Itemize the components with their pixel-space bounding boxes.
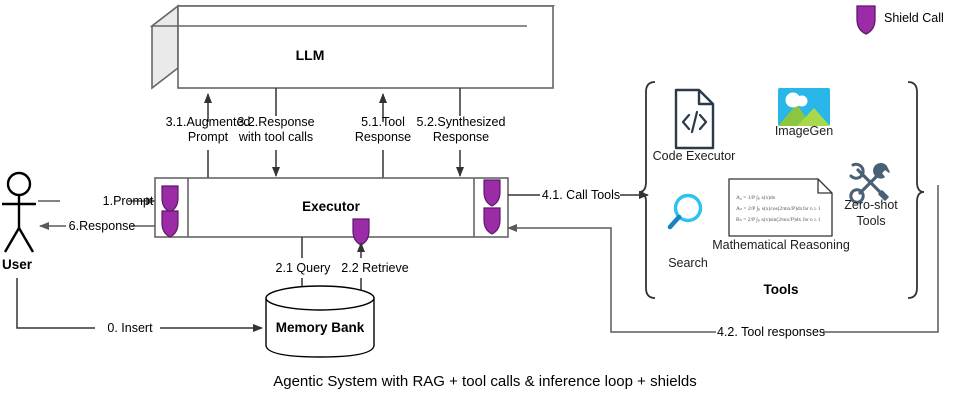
edge-label-prompt: 1.Prompt xyxy=(94,194,162,208)
edge-label-response-tool-calls-line2: with tool calls xyxy=(211,130,341,145)
svg-text:A₀ = 1/P ∫ₚ s(x)dx: A₀ = 1/P ∫ₚ s(x)dx xyxy=(736,194,776,201)
shield-icon-exec-left-bottom xyxy=(162,211,178,237)
shield-icon-exec-right-top xyxy=(484,180,500,206)
shield-icon-legend xyxy=(857,6,875,34)
tools-group-label: Tools xyxy=(711,283,851,297)
edge-label-tool-responses: 4.2. Tool responses xyxy=(717,325,823,339)
edge-label-response-tool-calls-line1: 3.2.Response xyxy=(211,115,341,130)
shield-icon-exec-right-bottom xyxy=(484,208,500,234)
executor-label: Executor xyxy=(271,200,391,214)
svg-text:for n ≥ 1: for n ≥ 1 xyxy=(803,207,821,212)
memory-bank-label: Memory Bank xyxy=(260,321,380,335)
math-document-icon[interactable]: A₀ = 1/P ∫ₚ s(x)dx Aₙ = 2/P ∫ₚ s(x)cos(2… xyxy=(729,179,832,236)
tool-label-imagegen: ImageGen xyxy=(724,124,884,139)
shield-icon-exec-left-top xyxy=(162,186,178,212)
user-label: User xyxy=(2,258,32,272)
edge-label-synthesized-response-line1: 5.2.Synthesized xyxy=(396,115,526,130)
svg-text:Aₙ = 2/P ∫ₚ s(x)cos(2πnx/P)dx: Aₙ = 2/P ∫ₚ s(x)cos(2πnx/P)dx xyxy=(736,205,803,212)
edge-label-synthesized-response-line2: Response xyxy=(396,130,526,145)
image-icon[interactable] xyxy=(778,88,830,126)
tools-right-brace xyxy=(908,82,924,298)
code-document-icon[interactable] xyxy=(676,90,713,148)
llm-label: LLM xyxy=(255,48,365,62)
edge-label-response: 6.Response xyxy=(64,219,140,233)
edge-label-call-tools: 4.1. Call Tools xyxy=(541,188,621,202)
legend-label: Shield Call xyxy=(884,11,944,25)
tool-label-search: Search xyxy=(618,256,758,271)
user-actor-icon[interactable] xyxy=(2,173,36,252)
edge-label-retrieve: 2.2 Retrieve xyxy=(337,261,413,275)
shield-icon-exec-bottom-center xyxy=(353,219,369,245)
svg-text:Bₙ = 2/P ∫ₚ s(x)sin(2πnx/P)dx: Bₙ = 2/P ∫ₚ s(x)sin(2πnx/P)dx xyxy=(736,216,801,223)
magnifier-icon[interactable] xyxy=(670,196,701,228)
tool-label-mathematical-reasoning: Mathematical Reasoning xyxy=(701,237,861,253)
tool-label-code-executor: Code Executor xyxy=(614,149,774,164)
svg-text:for n ≥ 1: for n ≥ 1 xyxy=(803,218,821,223)
edge-label-insert: 0. Insert xyxy=(96,321,164,335)
tool-label-zero-shot-tools: Zero-shot Tools xyxy=(836,197,906,229)
diagram-caption: Agentic System with RAG + tool calls & i… xyxy=(135,375,835,389)
edge-label-query: 2.1 Query xyxy=(272,261,334,275)
llm-box[interactable] xyxy=(152,6,553,88)
